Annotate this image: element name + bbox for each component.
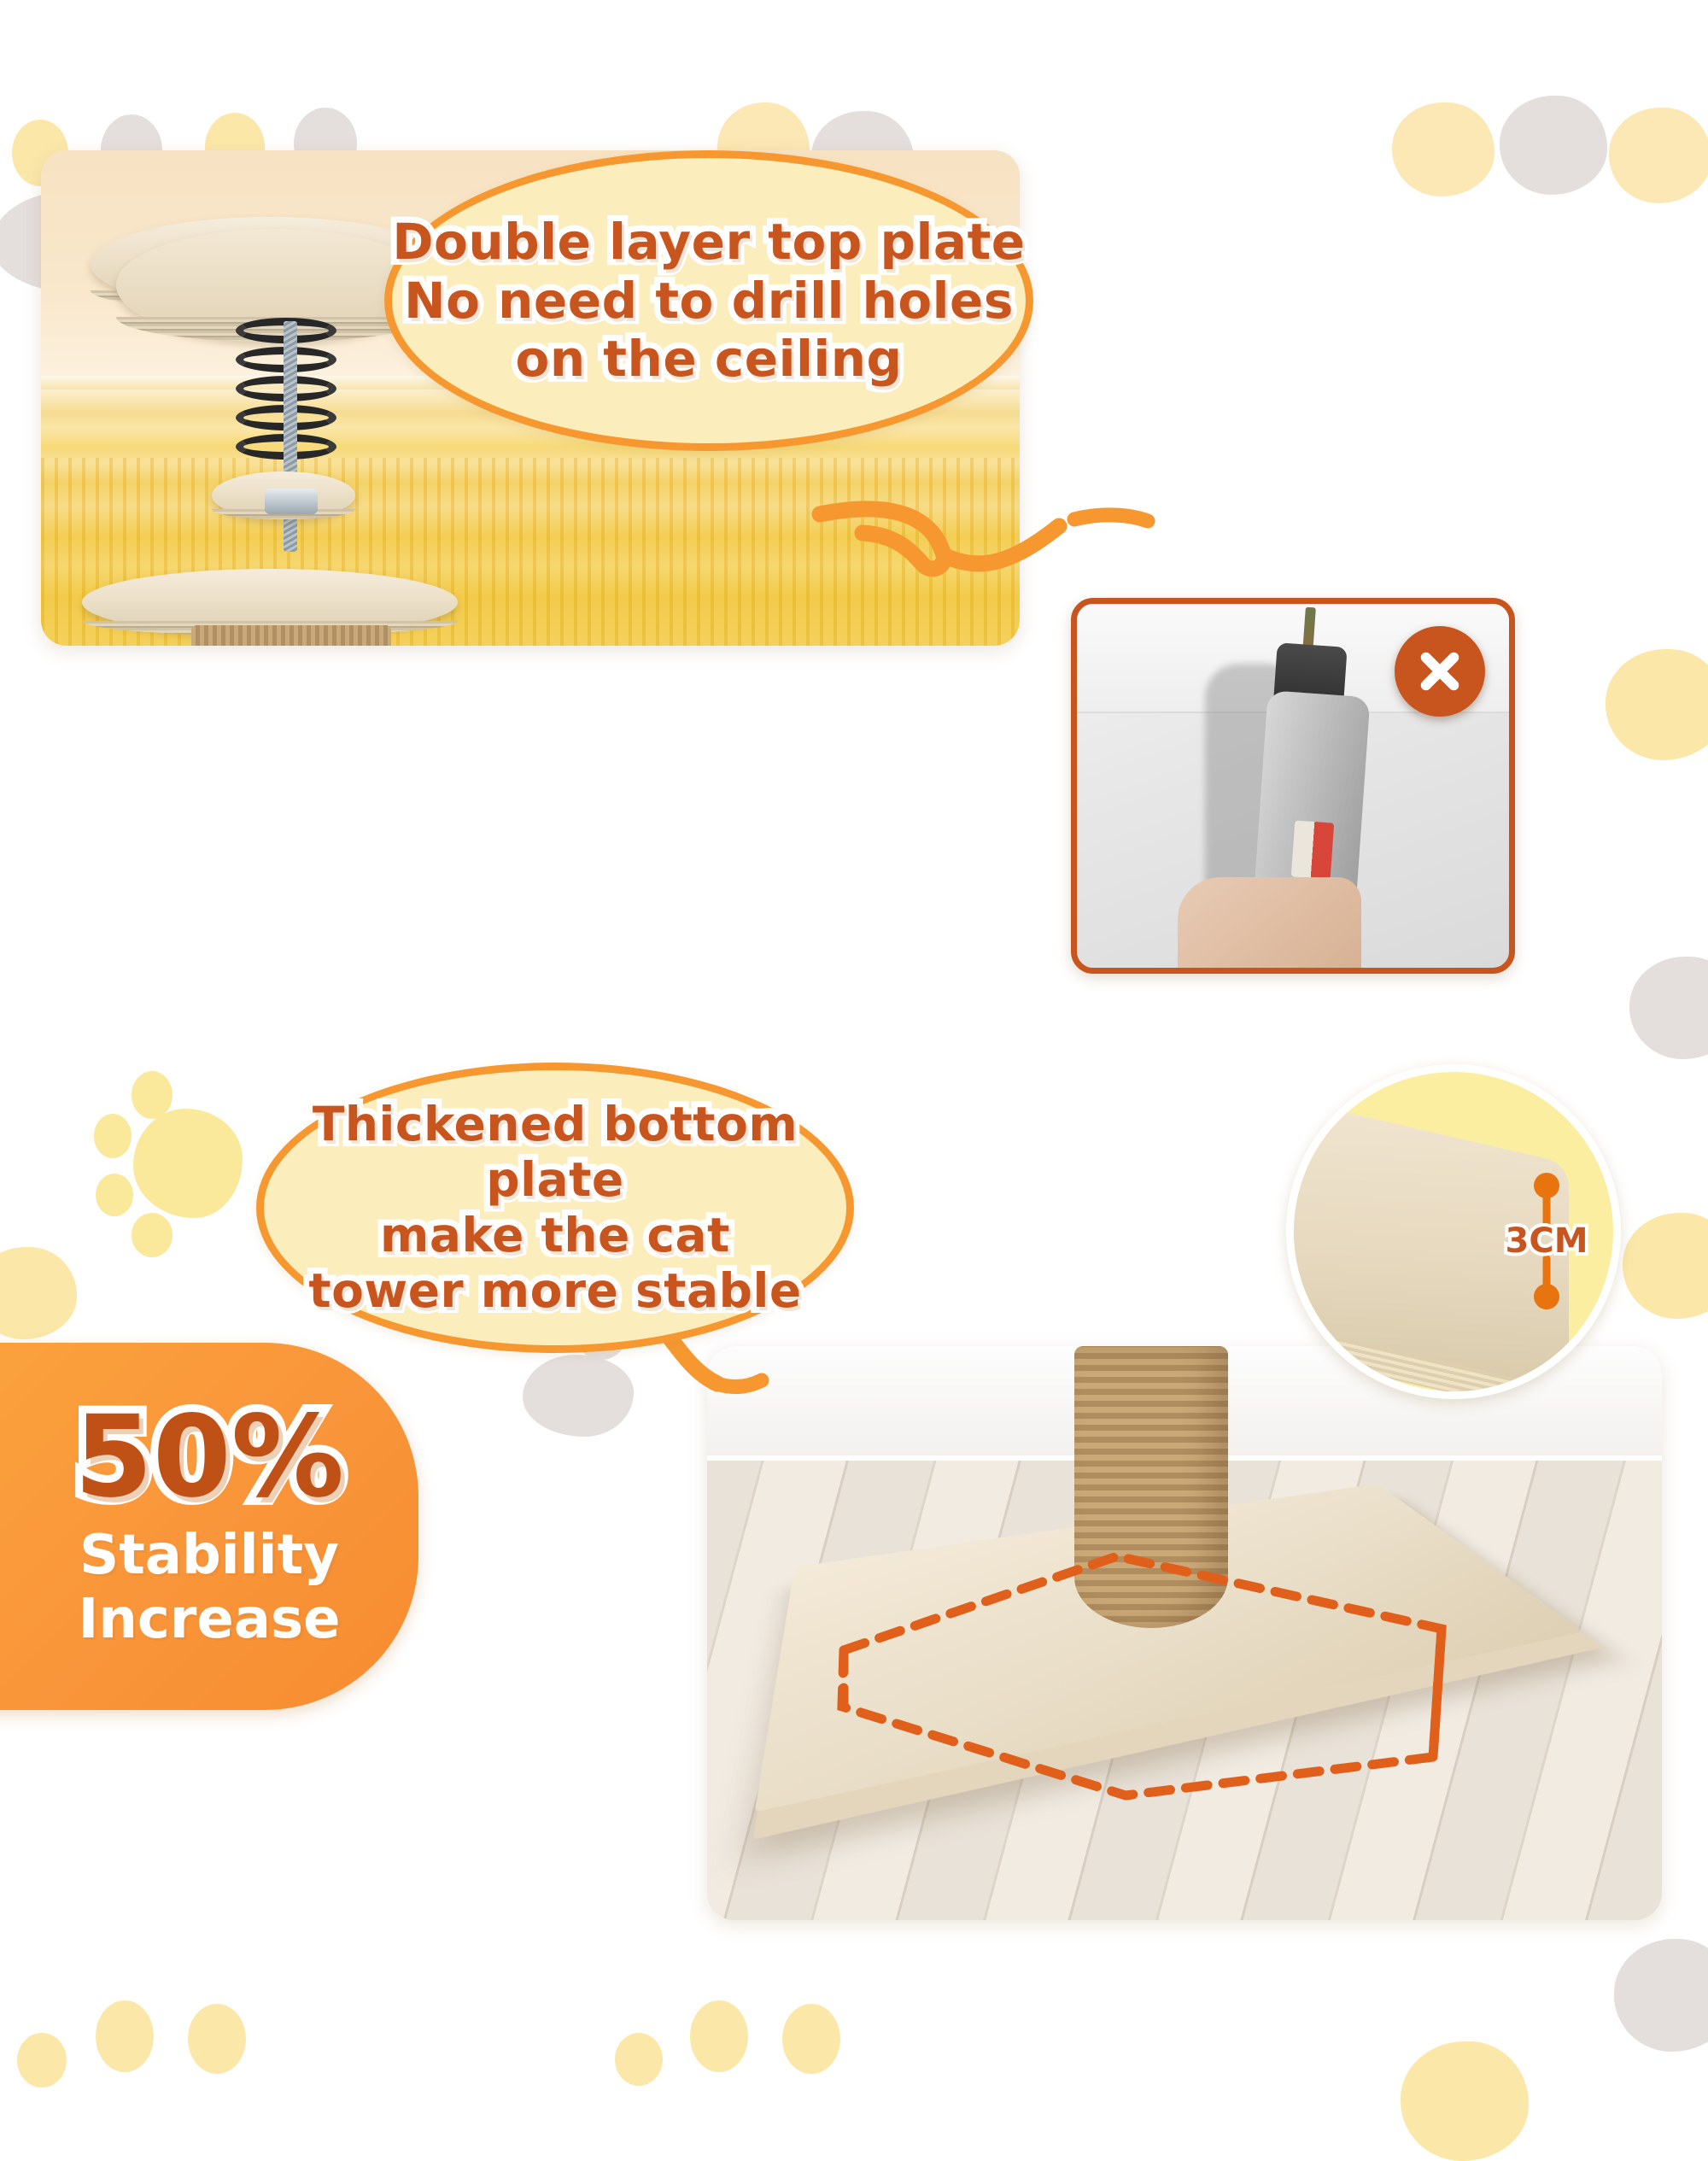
bubble2-line3: tower more stable <box>264 1263 846 1319</box>
thickness-value-label: 3CM <box>1506 1221 1588 1261</box>
paw-print-decor-mid-left <box>82 1052 278 1266</box>
sisal-rope-post-top <box>191 625 391 646</box>
stability-increase-badge: 50% Stability Increase <box>0 1343 418 1710</box>
blob-decor-left-lower <box>0 1247 77 1339</box>
badge-line1: Stability <box>79 1524 341 1589</box>
base-plate-photo-card <box>707 1346 1662 1920</box>
blob-decor-top-right-2 <box>1500 96 1607 195</box>
speech-bubble-top-plate-text: Double layer top plate No need to drill … <box>392 213 1025 388</box>
x-mark-icon <box>1395 626 1485 717</box>
blob-decor-top-right-3 <box>1609 108 1708 203</box>
bubble2-line1: Thickened bottom plate <box>264 1097 846 1208</box>
paw-print-decor-bottom-mid <box>615 1965 871 2152</box>
thickness-highlight-outline <box>835 1548 1450 1804</box>
bubble1-line1: Double layer top plate <box>392 213 1025 271</box>
bubble2-line2: make the cat <box>264 1208 846 1263</box>
vertical-dimension-arrow-icon: 3CM <box>1497 1173 1596 1309</box>
speech-bubble-top-plate: Double layer top plate No need to drill … <box>384 150 1033 451</box>
ceiling-molding-lower <box>41 437 1020 456</box>
blob-decor-right-mid <box>1606 649 1708 760</box>
bubble1-line3: on the ceiling <box>392 330 1025 388</box>
blob-decor-bottom-right <box>1401 2041 1529 2161</box>
blob-decor-top-right <box>1392 102 1494 196</box>
blob-decor-right-mid-2 <box>1629 957 1708 1059</box>
hand-holding-drill <box>1178 877 1361 974</box>
board-thickness-inset: 3CM <box>1286 1064 1621 1399</box>
infographic-canvas: 3CM Double layer top plate No need to dr… <box>0 0 1708 2135</box>
stability-percent-value: 50% <box>74 1400 344 1515</box>
speech-bubble-tail-top <box>803 501 1161 654</box>
badge-line2: Increase <box>79 1588 341 1653</box>
speech-bubble-bottom-plate-text: Thickened bottom plate make the cat towe… <box>264 1097 846 1319</box>
bubble1-line2: No need to drill holes <box>392 272 1025 330</box>
blob-decor-right-low <box>1623 1213 1708 1319</box>
speech-bubble-bottom-plate: Thickened bottom plate make the cat towe… <box>256 1063 854 1353</box>
paw-print-decor-bottom-left <box>17 1965 273 2152</box>
blob-decor-right-bottom <box>1614 1939 1708 2052</box>
drill-sticker-label <box>1291 820 1334 879</box>
stability-badge-subtitle: Stability Increase <box>79 1524 341 1653</box>
hex-nut <box>265 489 318 514</box>
